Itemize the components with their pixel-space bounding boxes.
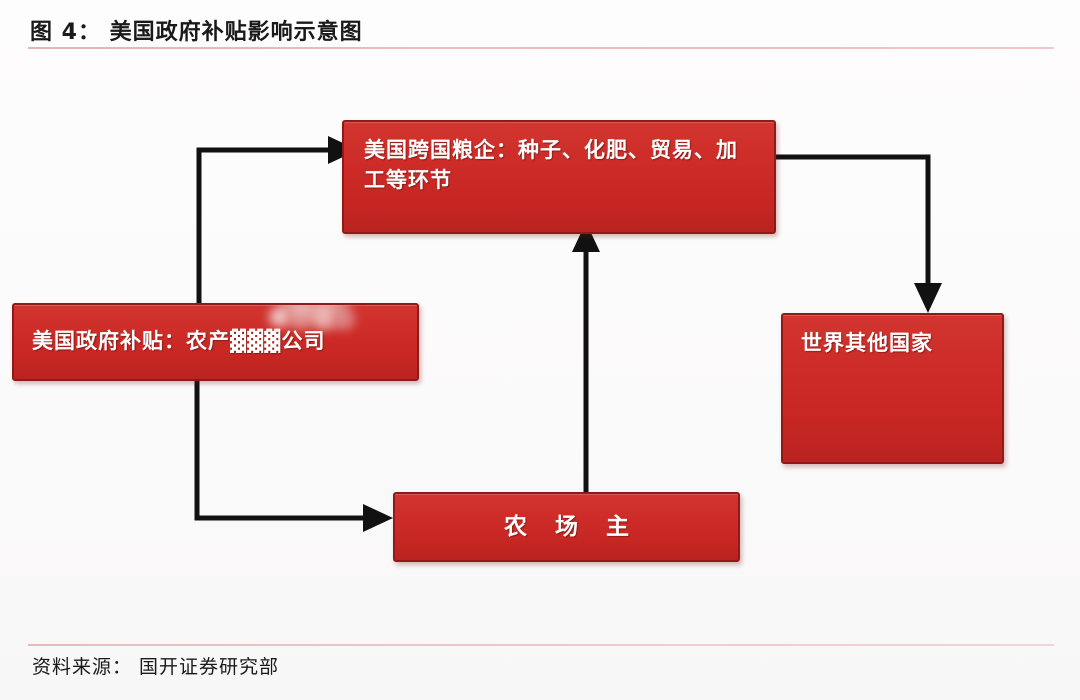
figure-title: 图 4： 美国政府补贴影响示意图 (30, 14, 363, 46)
edge-subsidy-to-agribusiness (199, 136, 358, 303)
diagram-canvas: 美国跨国粮企：种子、化肥、贸易、加工等环节 美国政府补贴：农产▓▓▓公司 农 场… (0, 60, 1080, 640)
edge-agribusiness-to-world (776, 157, 942, 313)
node-farmer[interactable]: 农 场 主 (393, 492, 740, 562)
node-subsidy-label: 美国政府补贴：农产▓▓▓公司 (32, 327, 399, 357)
node-farmer-label: 农 场 主 (411, 511, 722, 544)
footer-divider (28, 644, 1054, 646)
edge-farmer-to-agribusiness (572, 222, 600, 492)
edge-subsidy-to-farmer (197, 381, 393, 532)
title-divider (28, 47, 1054, 49)
node-world[interactable]: 世界其他国家 (781, 313, 1004, 464)
node-world-label: 世界其他国家 (801, 329, 984, 359)
source-note: 资料来源： 国开证券研究部 (32, 652, 279, 679)
figure-page: 图 4： 美国政府补贴影响示意图 (0, 0, 1080, 700)
node-agribusiness[interactable]: 美国跨国粮企：种子、化肥、贸易、加工等环节 (342, 120, 776, 234)
node-agribusiness-label: 美国跨国粮企：种子、化肥、贸易、加工等环节 (364, 136, 758, 196)
node-subsidy[interactable]: 美国政府补贴：农产▓▓▓公司 (12, 303, 419, 381)
